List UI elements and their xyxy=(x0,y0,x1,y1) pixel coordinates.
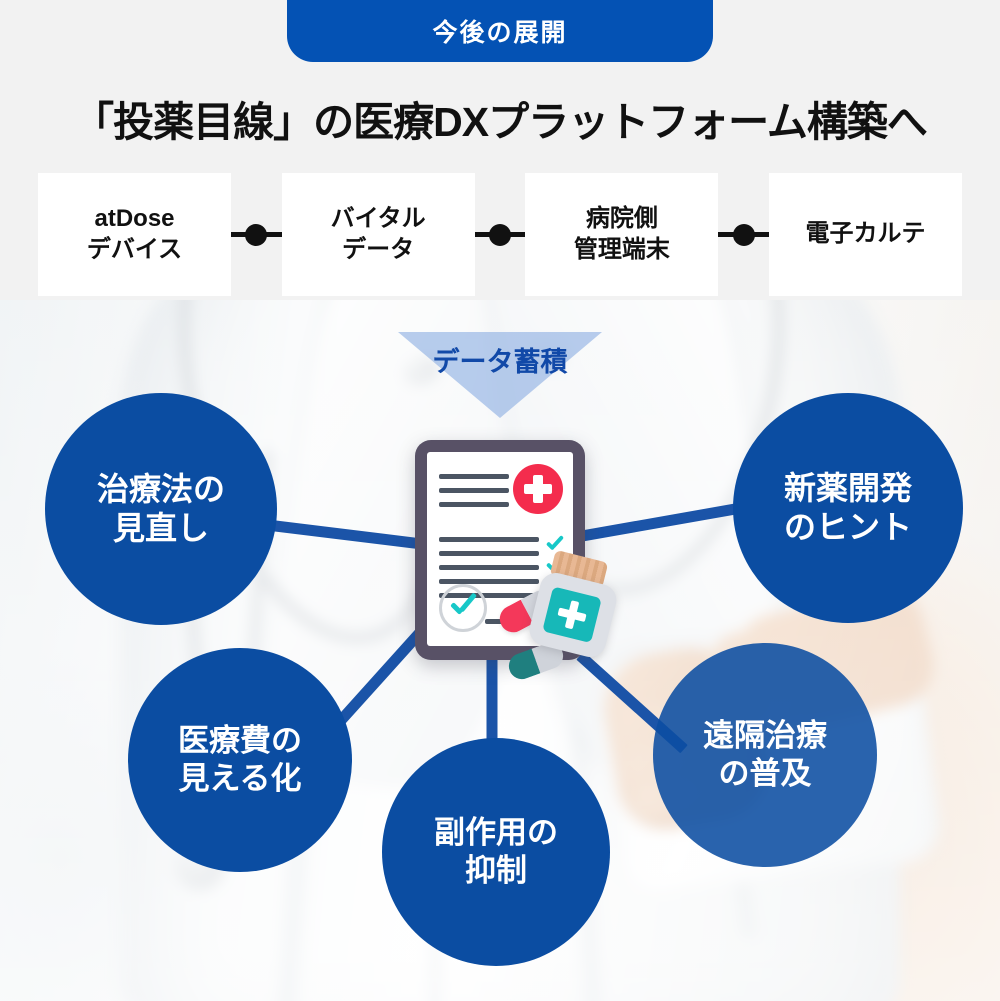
dot-connector-icon xyxy=(231,232,282,237)
section-badge-label: 今後の展開 xyxy=(432,13,567,49)
red-medical-cross-badge xyxy=(513,464,563,514)
data-flow-row: atDose デバイス バイタル データ 病院側 管理端末 電子カルテ xyxy=(38,173,962,296)
flow-step-line1: atDose xyxy=(94,204,174,234)
document-line xyxy=(439,537,539,542)
outcome-label-line1: 遠隔治療 xyxy=(703,717,827,755)
flow-step-line1: バイタル xyxy=(331,204,426,234)
data-accumulation-label: データ蓄積 xyxy=(378,340,622,379)
flow-step-electronic-chart: 電子カルテ xyxy=(769,173,962,296)
flow-step-line2: データ xyxy=(342,235,414,265)
page-title: 「投薬目線」の医療DXプラットフォーム構築へ xyxy=(0,88,1000,148)
circled-check-icon xyxy=(439,584,487,632)
outcome-label-line1: 医療費の xyxy=(178,722,302,760)
outcome-label-line2: 抑制 xyxy=(434,852,558,890)
document-line xyxy=(439,488,509,493)
document-line xyxy=(439,502,509,507)
outcome-label-line1: 副作用の xyxy=(434,814,558,852)
flow-connector xyxy=(718,173,769,296)
outcome-label-line2: 見直し xyxy=(97,509,225,548)
document-line xyxy=(439,551,539,556)
outcome-label-line1: 治療法の xyxy=(97,470,225,509)
flow-step-line1: 電子カルテ xyxy=(806,219,926,249)
flow-connector xyxy=(475,173,526,296)
infographic-canvas: 今後の展開 「投薬目線」の医療DXプラットフォーム構築へ atDose デバイス… xyxy=(0,0,1000,1001)
outcome-label-line2: の普及 xyxy=(703,755,827,793)
document-line xyxy=(439,474,509,479)
document-line xyxy=(439,565,539,570)
outcome-circle-treatment-review[interactable]: 治療法の 見直し xyxy=(45,393,277,625)
bottle-cross-label xyxy=(542,586,602,643)
flow-step-vital-data: バイタル データ xyxy=(282,173,475,296)
outcome-circle-cost-visibility[interactable]: 医療費の 見える化 xyxy=(128,648,352,872)
outcome-label-line2: のヒント xyxy=(784,508,912,547)
outcome-circle-side-effect-control[interactable]: 副作用の 抑制 xyxy=(382,738,610,966)
flow-step-line2: デバイス xyxy=(87,235,182,265)
outcome-label-line1: 新薬開発 xyxy=(784,469,912,508)
flow-step-line2: 管理端末 xyxy=(574,235,670,265)
outcome-circle-telemedicine[interactable]: 遠隔治療 の普及 xyxy=(653,643,877,867)
flow-step-line1: 病院側 xyxy=(586,204,658,234)
flow-connector xyxy=(231,173,282,296)
section-badge: 今後の展開 xyxy=(287,0,713,62)
outcome-circle-new-drug-hint[interactable]: 新薬開発 のヒント xyxy=(733,393,963,623)
flow-step-hospital-terminal: 病院側 管理端末 xyxy=(525,173,718,296)
outcome-label-line2: 見える化 xyxy=(178,760,302,798)
flow-step-atdose-device: atDose デバイス xyxy=(38,173,231,296)
document-line xyxy=(439,579,539,584)
dot-connector-icon xyxy=(475,232,526,237)
dot-connector-icon xyxy=(718,232,769,237)
